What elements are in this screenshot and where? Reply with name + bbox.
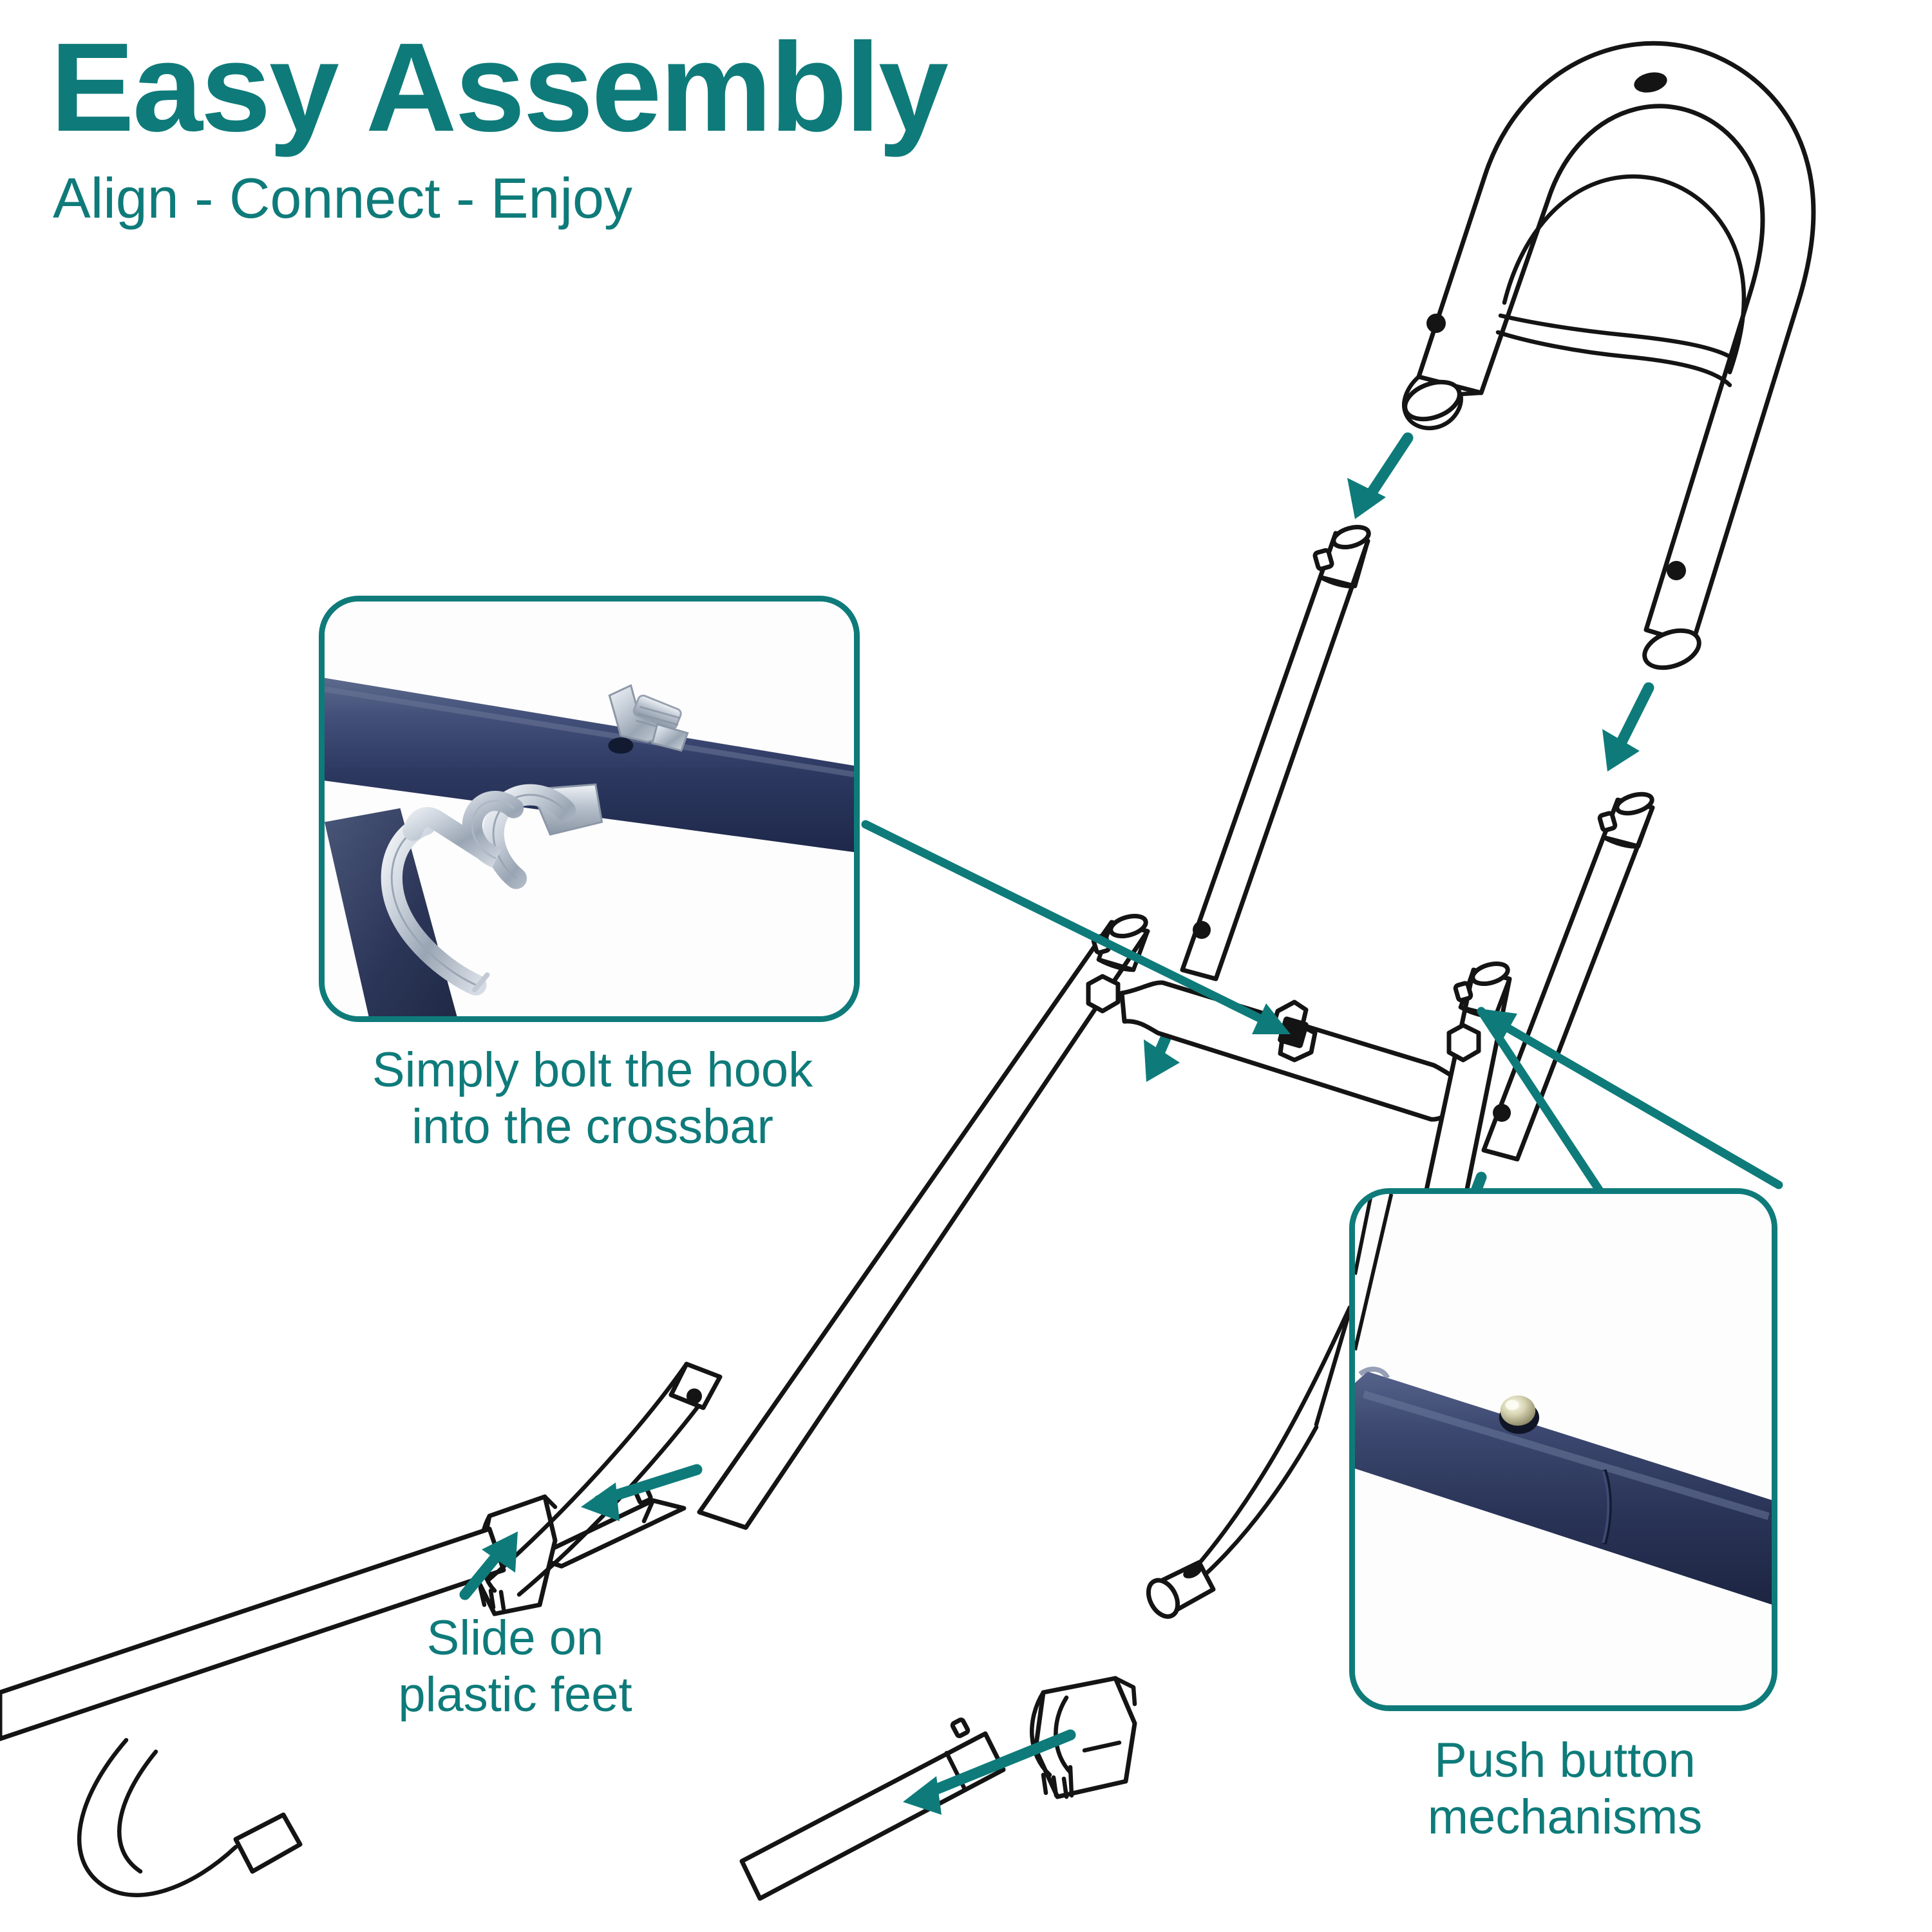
push-button-callout-caption: Push button mechanisms [1307, 1732, 1823, 1846]
part-upper-right-leg-tube [1484, 791, 1654, 1159]
infographic-canvas: Easy Assembly Align - Connect - Enjoy .l… [0, 0, 1932, 1932]
plastic-foot-right [1032, 1678, 1135, 1797]
callout-push-button [1349, 1188, 1777, 1711]
part-top-arch-frame [1400, 43, 1814, 674]
part-right-base-leg [1142, 1306, 1351, 1622]
push-button-photo [1355, 1194, 1772, 1705]
arrow-arch-right-leg-into-socket [1602, 688, 1649, 772]
part-crossbar [1122, 983, 1470, 1119]
plastic-feet-caption: Slide on plastic feet [335, 1610, 696, 1723]
hook-photo [325, 601, 854, 1016]
callout-hook [319, 596, 860, 1022]
part-base-rail-tube [742, 1678, 1135, 1899]
arrow-arch-left-leg-into-socket [1347, 438, 1408, 519]
hook-callout-caption: Simply bolt the hook into the crossbar [258, 1042, 927, 1155]
part-upper-left-leg-tube [1182, 524, 1371, 979]
